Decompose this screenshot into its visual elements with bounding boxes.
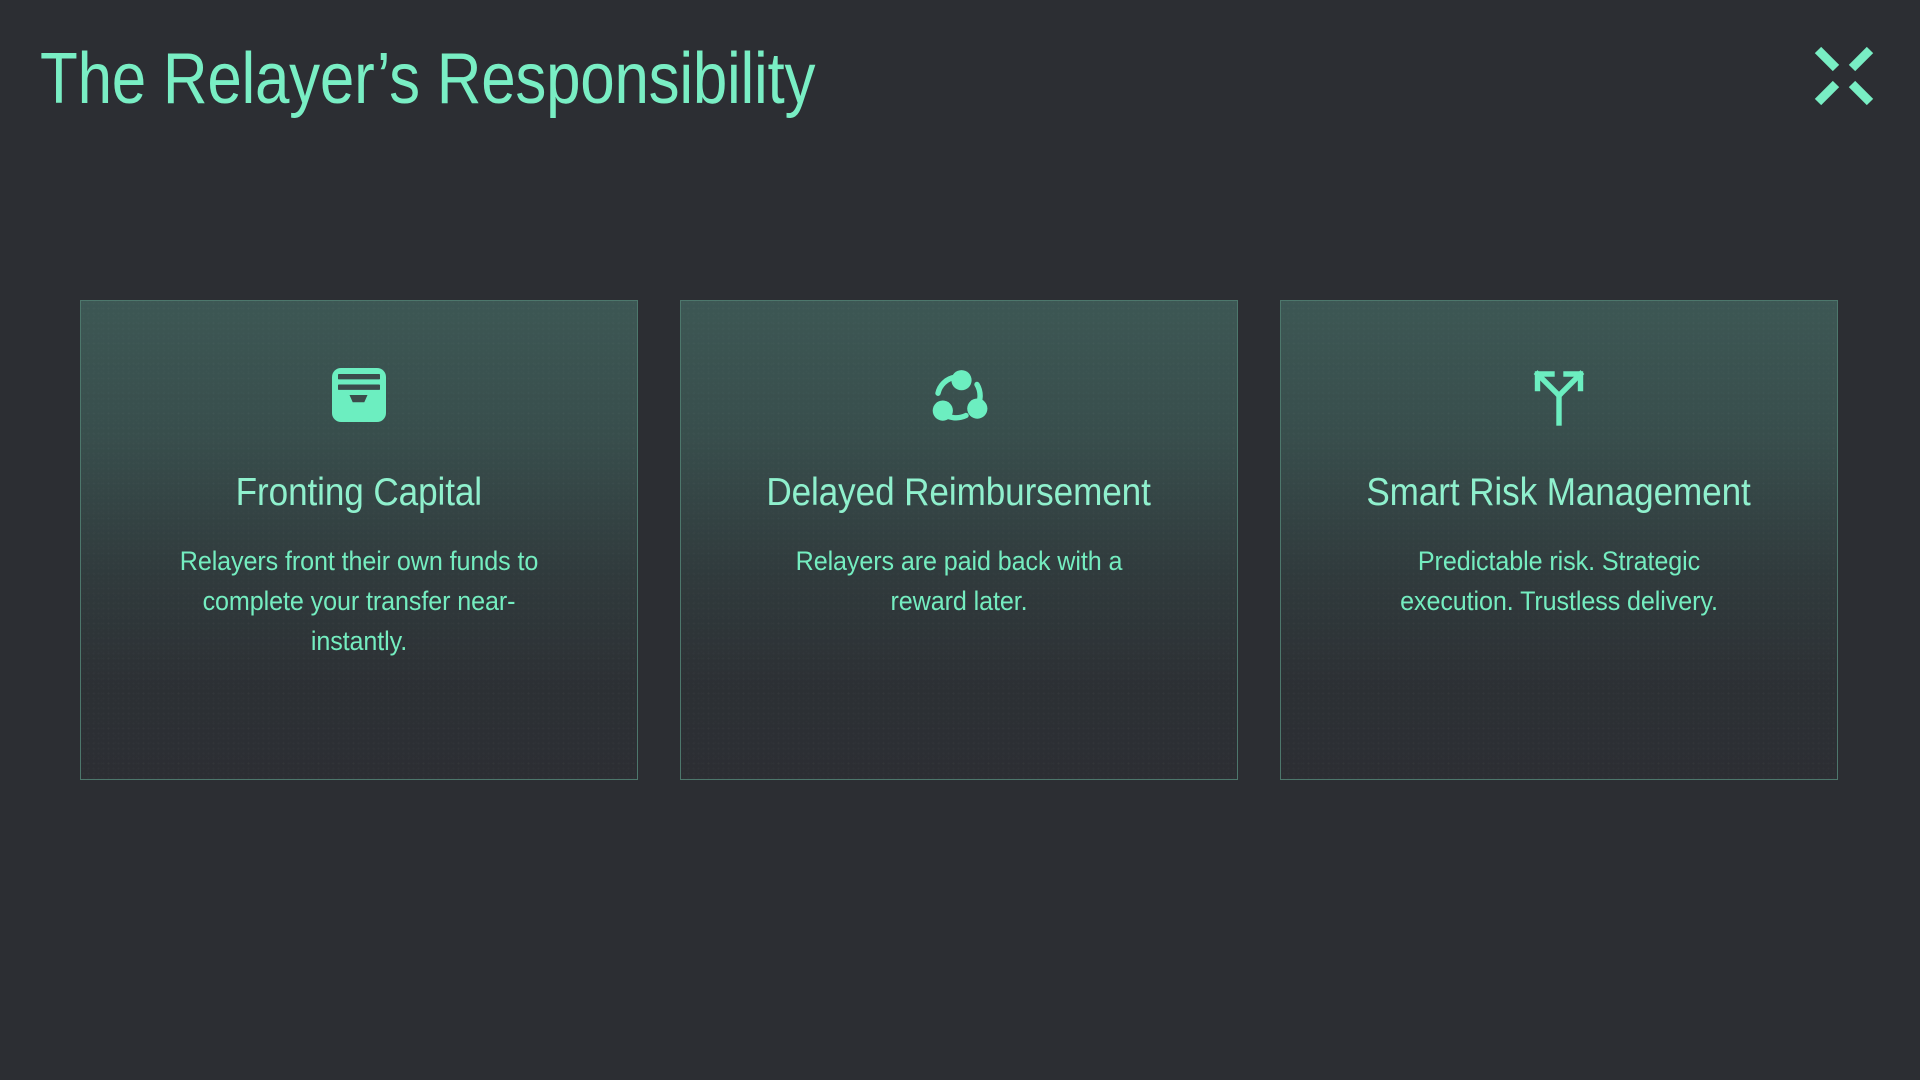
card-smart-risk-management[interactable]: Smart Risk Management Predictable risk. … [1280, 300, 1838, 780]
close-button[interactable] [1810, 42, 1878, 110]
recycle-cycle-icon [925, 361, 993, 429]
card-title: Fronting Capital [236, 471, 482, 515]
card-description: Predictable risk. Strategic execution. T… [1359, 542, 1759, 622]
card-title: Delayed Reimbursement [767, 471, 1151, 515]
card-title: Smart Risk Management [1367, 471, 1751, 515]
inbox-tray-icon [325, 361, 393, 429]
split-arrows-icon [1525, 361, 1593, 429]
page-header: The Relayer’s Responsibility [0, 0, 1920, 200]
card-fronting-capital[interactable]: Fronting Capital Relayers front their ow… [80, 300, 638, 780]
page-title: The Relayer’s Responsibility [40, 42, 815, 118]
card-delayed-reimbursement[interactable]: Delayed Reimbursement Relayers are paid … [680, 300, 1238, 780]
close-x-icon [1810, 42, 1878, 110]
card-description: Relayers front their own funds to comple… [159, 542, 559, 662]
card-description: Relayers are paid back with a reward lat… [759, 542, 1159, 622]
cards-row: Fronting Capital Relayers front their ow… [80, 300, 1838, 780]
